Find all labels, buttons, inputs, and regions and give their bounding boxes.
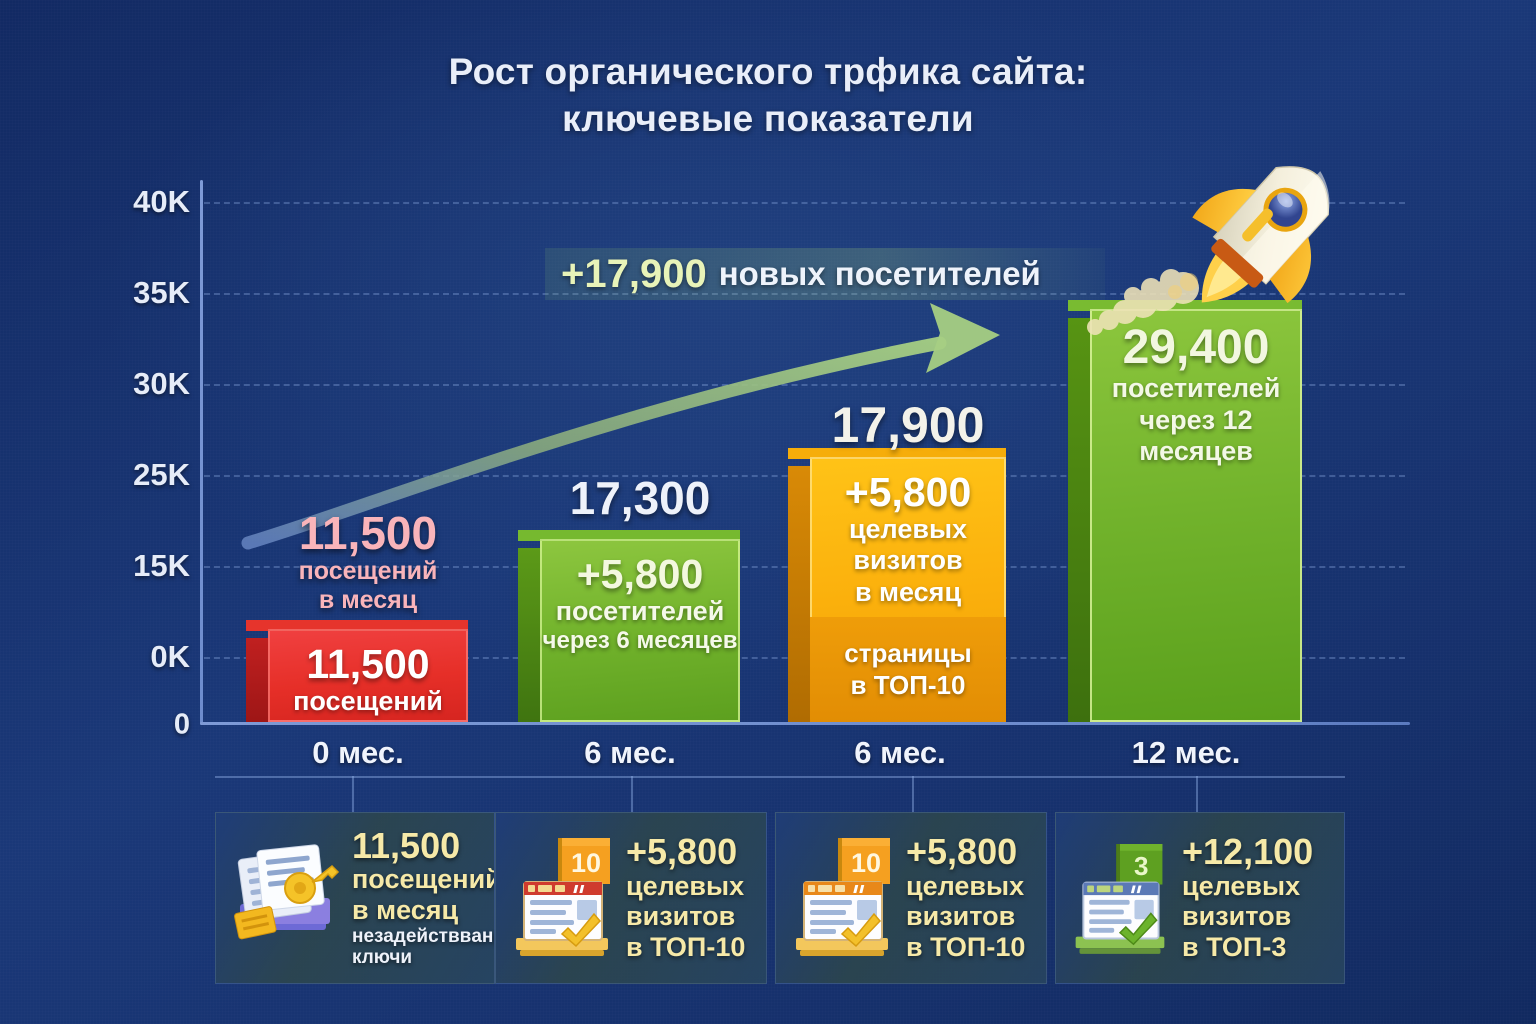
card-line1: посещений (352, 864, 495, 895)
bar-inner-line2: через 6 месяцев (540, 627, 740, 655)
connector-horizontal (215, 776, 1345, 778)
connector-drop-1 (352, 776, 354, 812)
x-axis (200, 722, 1410, 725)
infographic-canvas: Рост органического трфика сайта: ключевы… (0, 0, 1536, 1024)
bar-inner-line2: через 12 (1090, 405, 1302, 436)
browser-rank-3-icon: 3 (1066, 834, 1174, 962)
bar-inner-value: +5,800 (810, 471, 1006, 514)
bar-0-top-value: 11,500 (258, 510, 478, 557)
annotation-value: +17,900 (561, 252, 707, 297)
card-line2: визитов (626, 901, 745, 932)
browser-rank-10-icon: 10 (506, 834, 618, 962)
bar-6-mes-targeted[interactable]: +5,800 целевых визитов в месяц страницы … (810, 457, 1006, 722)
bar-inner-line3: месяцев (1090, 436, 1302, 467)
page-title: Рост органического трфика сайта: ключевы… (0, 48, 1536, 143)
card-small2: ключи (352, 947, 495, 969)
bar-inner-line1: посещений (268, 686, 468, 717)
card-text: +12,100 целевых визитов в ТОП-3 (1182, 833, 1313, 963)
title-line-1: Рост органического трфика сайта: (0, 48, 1536, 95)
bar-0-top-label: 11,500 посещений в месяц (258, 510, 478, 616)
bar-1-top-label: 17,300 (530, 475, 750, 522)
bar-inner-value: +5,800 (540, 553, 740, 596)
ytick-15k: 15K (133, 548, 190, 584)
bar-0-top-line1: посещений (258, 557, 478, 587)
connector-drop-2 (631, 776, 633, 812)
bar-inner-labels: +5,800 посетителей через 6 месяцев (540, 539, 740, 655)
card-unused-keys[interactable]: 11,500 посещений в месяц незадействвaнны… (215, 812, 495, 984)
documents-key-icon (226, 842, 344, 954)
bar-6-mes-visitors[interactable]: +5,800 посетителей через 6 месяцев (540, 539, 740, 722)
bar-side-face (518, 548, 540, 722)
card-line3: в ТОП-10 (626, 932, 745, 963)
xlabel-3: 12 мес. (1080, 735, 1292, 771)
rank-badge: 10 (571, 848, 601, 878)
card-line2: визитов (1182, 901, 1313, 932)
xlabel-2: 6 мес. (800, 735, 1000, 771)
rank-badge: 3 (1134, 851, 1148, 881)
bar-inner-line1: посетителей (1090, 373, 1302, 404)
bar-0-mes[interactable]: 11,500 посещений (268, 629, 468, 722)
connector-drop-4 (1196, 776, 1198, 812)
bar-inner-line1: целевых (810, 514, 1006, 545)
bar-footer-line2: в ТОП-10 (851, 670, 966, 701)
bar-1-top-value: 17,300 (530, 475, 750, 522)
card-number: 11,500 (352, 827, 495, 864)
card-line1: целевых (906, 871, 1025, 902)
card-line1: целевых (626, 871, 745, 902)
card-top10-a[interactable]: 10 +5,800 целевых визитов в ТОП-10 (495, 812, 767, 984)
bar-inner-line2: визитов (810, 545, 1006, 576)
card-line2: визитов (906, 901, 1025, 932)
y-axis (200, 180, 203, 725)
card-number: +12,100 (1182, 833, 1313, 870)
card-top3[interactable]: 3 +12,100 целевых визитов в ТОП-3 (1055, 812, 1345, 984)
card-line3: в ТОП-10 (906, 932, 1025, 963)
card-small1: незадействвaнные (352, 926, 495, 948)
ytick-25k: 25K (133, 457, 190, 493)
ytick-30k: 30K (133, 366, 190, 402)
card-line1: целевых (1182, 871, 1313, 902)
card-text: +5,800 целевых визитов в ТОП-10 (626, 833, 745, 963)
bar-side-face (788, 466, 810, 722)
bar-inner-labels: +5,800 целевых визитов в месяц (810, 457, 1006, 608)
bar-inner-labels: 29,400 посетителей через 12 месяцев (1090, 309, 1302, 467)
card-text: 11,500 посещений в месяц незадействвaнны… (352, 827, 495, 969)
bar-inner-labels: 11,500 посещений (268, 629, 468, 717)
xlabel-0: 0 мес. (258, 735, 458, 771)
growth-annotation-banner: +17,900 новых посетителей (545, 248, 1105, 300)
card-line3: в ТОП-3 (1182, 932, 1313, 963)
bar-inner-line3: в месяц (810, 577, 1006, 608)
bar-footer-block: страницы в ТОП-10 (810, 617, 1006, 722)
ytick-40k: 40K (133, 184, 190, 220)
xlabel-1: 6 мес. (530, 735, 730, 771)
rank-badge: 10 (851, 848, 881, 878)
card-line2: в месяц (352, 895, 495, 926)
browser-rank-10-icon: 10 (786, 834, 898, 962)
bar-side-face (1068, 318, 1090, 722)
bar-side-face (246, 638, 268, 722)
bar-12-mes[interactable]: 29,400 посетителей через 12 месяцев (1090, 309, 1302, 722)
bar-footer-line1: страницы (844, 638, 971, 669)
connector-drop-3 (912, 776, 914, 812)
bar-2-top-label: 17,900 (800, 400, 1016, 451)
title-line-2: ключевые показатели (0, 95, 1536, 142)
bar-0-top-line2: в месяц (258, 586, 478, 616)
ytick-origin: 0 (174, 709, 190, 742)
ytick-35k: 35K (133, 275, 190, 311)
card-number: +5,800 (626, 833, 745, 870)
bar-inner-line1: посетителей (540, 596, 740, 627)
bar-inner-value: 11,500 (268, 643, 468, 686)
card-number: +5,800 (906, 833, 1025, 870)
card-text: +5,800 целевых визитов в ТОП-10 (906, 833, 1025, 963)
bar-inner-value: 29,400 (1090, 323, 1302, 373)
card-top10-b[interactable]: 10 +5,800 целевых визитов в ТОП-10 (775, 812, 1047, 984)
annotation-text: новых посетителей (719, 255, 1041, 293)
ytick-0k: 0K (150, 639, 190, 675)
bar-2-top-value: 17,900 (800, 400, 1016, 451)
